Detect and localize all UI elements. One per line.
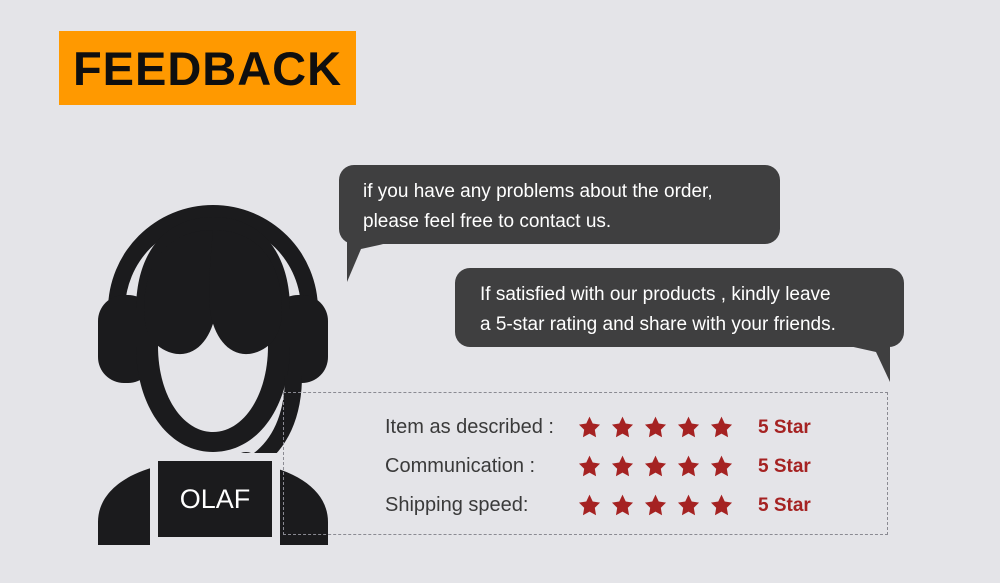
star-icon	[709, 454, 734, 479]
rating-value-communication: 5 Star	[746, 456, 811, 478]
rating-stars-shipping-speed	[577, 493, 746, 518]
rating-row: Item as described : 5 Star	[385, 408, 855, 447]
star-icon	[577, 454, 602, 479]
star-icon	[643, 493, 668, 518]
ratings-panel: Item as described : 5 Star Communication…	[283, 392, 888, 535]
star-icon	[610, 415, 635, 440]
rating-label-shipping-speed: Shipping speed:	[385, 494, 577, 517]
star-icon	[709, 493, 734, 518]
rating-stars-communication	[577, 454, 746, 479]
speech-bubble-rating-request: If satisfied with our products , kindly …	[455, 268, 904, 347]
speech-bubble-rating-request-tail	[840, 344, 890, 382]
rating-value-shipping-speed: 5 Star	[746, 495, 811, 517]
rating-label-item-as-described: Item as described :	[385, 416, 577, 439]
star-icon	[643, 415, 668, 440]
feedback-banner-page: FEEDBACK	[0, 0, 1000, 583]
speech-bubble-rating-request-text: If satisfied with our products , kindly …	[480, 280, 884, 340]
rating-value-item-as-described: 5 Star	[746, 417, 811, 439]
speech-bubble-order-help: if you have any problems about the order…	[339, 165, 780, 244]
speech-bubble-order-help-text: if you have any problems about the order…	[363, 177, 760, 237]
feedback-title: FEEDBACK	[73, 45, 342, 92]
laptop-logo-text: OLAF	[180, 484, 251, 514]
rating-stars-item-as-described	[577, 415, 746, 440]
feedback-banner: FEEDBACK	[59, 31, 356, 105]
rating-label-communication: Communication :	[385, 455, 577, 478]
star-icon	[676, 493, 701, 518]
star-icon	[577, 493, 602, 518]
ratings-list: Item as described : 5 Star Communication…	[385, 408, 855, 525]
star-icon	[676, 454, 701, 479]
rating-row: Communication : 5 Star	[385, 447, 855, 486]
star-icon	[610, 493, 635, 518]
star-icon	[577, 415, 602, 440]
star-icon	[643, 454, 668, 479]
rating-row: Shipping speed: 5 Star	[385, 486, 855, 525]
speech-bubble-order-help-tail	[347, 241, 397, 282]
star-icon	[676, 415, 701, 440]
star-icon	[709, 415, 734, 440]
star-icon	[610, 454, 635, 479]
